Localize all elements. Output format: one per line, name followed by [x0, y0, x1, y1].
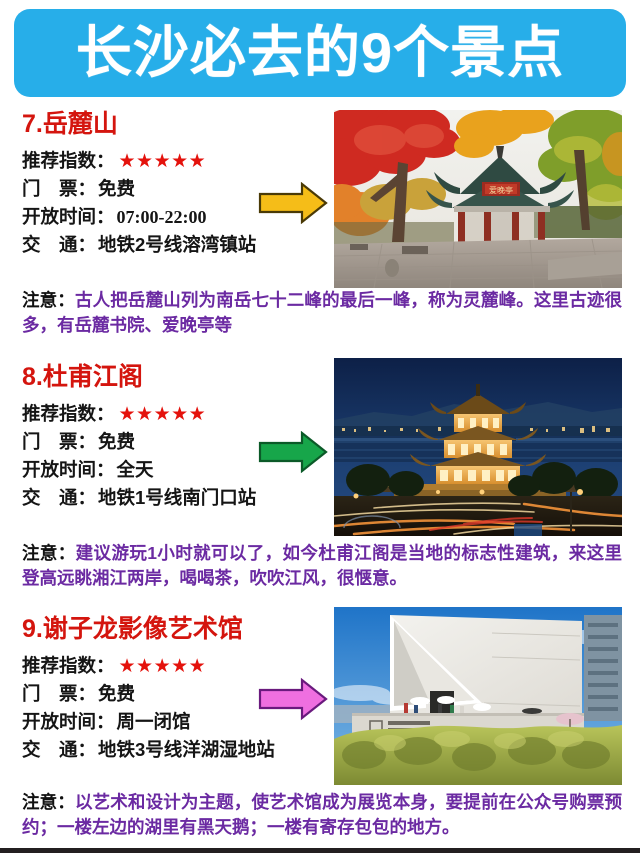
poster-page: 长沙必去的9个景点 7.岳麓山 推荐指数： ★★★★★ 门 票： 免费 开放时间…: [0, 0, 640, 853]
hours-value: 全天: [117, 456, 154, 484]
page-title: 长沙必去的9个景点: [76, 25, 564, 81]
section-7-rating-row: 推荐指数： ★★★★★: [22, 147, 322, 175]
bottom-bar: [0, 848, 640, 853]
note-text: 建议游玩1小时就可以了，如今杜甫江阁是当地的标志性建筑，来这里登高远眺湘江两岸，…: [22, 543, 622, 588]
section-7-title: 7.岳麓山: [22, 110, 322, 139]
arrow-green-icon: [258, 431, 328, 473]
transit-value: 地铁1号线南门口站: [98, 484, 256, 512]
hours-value: 07:00-22:00: [117, 204, 207, 231]
rating-label: 推荐指数：: [22, 652, 115, 680]
arrow-yellow-icon: [258, 182, 328, 224]
note-label: 注意：: [22, 543, 76, 563]
transit-label: 交 通：: [22, 736, 96, 764]
section-9-transit-row: 交 通： 地铁3号线洋湖湿地站: [22, 736, 322, 764]
rating-label: 推荐指数：: [22, 400, 115, 428]
note-label: 注意：: [22, 290, 75, 310]
photo-yuelu-mountain-pavilion: 爱晚亭: [334, 110, 622, 288]
ticket-label: 门 票：: [22, 680, 96, 708]
hours-label: 开放时间：: [22, 456, 115, 484]
ticket-value: 免费: [98, 175, 135, 203]
hours-label: 开放时间：: [22, 708, 115, 736]
transit-label: 交 通：: [22, 231, 96, 259]
transit-value: 地铁3号线洋湖湿地站: [98, 736, 275, 764]
section-8-note: 注意：建议游玩1小时就可以了，如今杜甫江阁是当地的标志性建筑，来这里登高远眺湘江…: [22, 541, 622, 591]
hours-label: 开放时间：: [22, 203, 115, 231]
rating-stars: ★★★★★: [119, 405, 207, 424]
section-8-transit-row: 交 通： 地铁1号线南门口站: [22, 484, 322, 512]
svg-text:爱晚亭: 爱晚亭: [489, 185, 513, 195]
note-label: 注意：: [22, 792, 75, 812]
rating-stars: ★★★★★: [119, 657, 207, 676]
arrow-pink-icon: [258, 677, 328, 721]
note-text: 以艺术和设计为主题，使艺术馆成为展览本身，要提前在公众号购票预约；一楼左边的湖里…: [22, 792, 622, 837]
photo-xiezilong-art-museum: [334, 607, 622, 785]
section-8: 8.杜甫江阁 推荐指数： ★★★★★ 门 票： 免费 开放时间： 全天 交 通：…: [0, 363, 640, 613]
title-banner: 长沙必去的9个景点: [14, 9, 626, 97]
section-8-rating-row: 推荐指数： ★★★★★: [22, 400, 322, 428]
ticket-label: 门 票：: [22, 175, 96, 203]
rating-label: 推荐指数：: [22, 147, 115, 175]
section-9-rating-row: 推荐指数： ★★★★★: [22, 652, 322, 680]
section-9: 9.谢子龙影像艺术馆 推荐指数： ★★★★★ 门 票： 免费 开放时间： 周一闭…: [0, 615, 640, 853]
section-8-title: 8.杜甫江阁: [22, 363, 322, 392]
photo-dufu-pavilion-night: [334, 358, 622, 536]
section-7-transit-row: 交 通： 地铁2号线溶湾镇站: [22, 231, 322, 259]
section-9-note: 注意：以艺术和设计为主题，使艺术馆成为展览本身，要提前在公众号购票预约；一楼左边…: [22, 790, 622, 840]
rating-stars: ★★★★★: [119, 152, 207, 171]
transit-value: 地铁2号线溶湾镇站: [98, 231, 256, 259]
section-7-note: 注意：古人把岳麓山列为南岳七十二峰的最后一峰，称为灵麓峰。这里古迹很多，有岳麓书…: [22, 288, 622, 338]
hours-value: 周一闭馆: [117, 708, 191, 736]
section-7: 7.岳麓山 推荐指数： ★★★★★ 门 票： 免费 开放时间： 07:00-22…: [0, 110, 640, 355]
note-text: 古人把岳麓山列为南岳七十二峰的最后一峰，称为灵麓峰。这里古迹很多，有岳麓书院、爱…: [22, 290, 622, 335]
ticket-label: 门 票：: [22, 428, 96, 456]
ticket-value: 免费: [98, 428, 135, 456]
section-9-title: 9.谢子龙影像艺术馆: [22, 615, 322, 644]
ticket-value: 免费: [98, 680, 135, 708]
transit-label: 交 通：: [22, 484, 96, 512]
